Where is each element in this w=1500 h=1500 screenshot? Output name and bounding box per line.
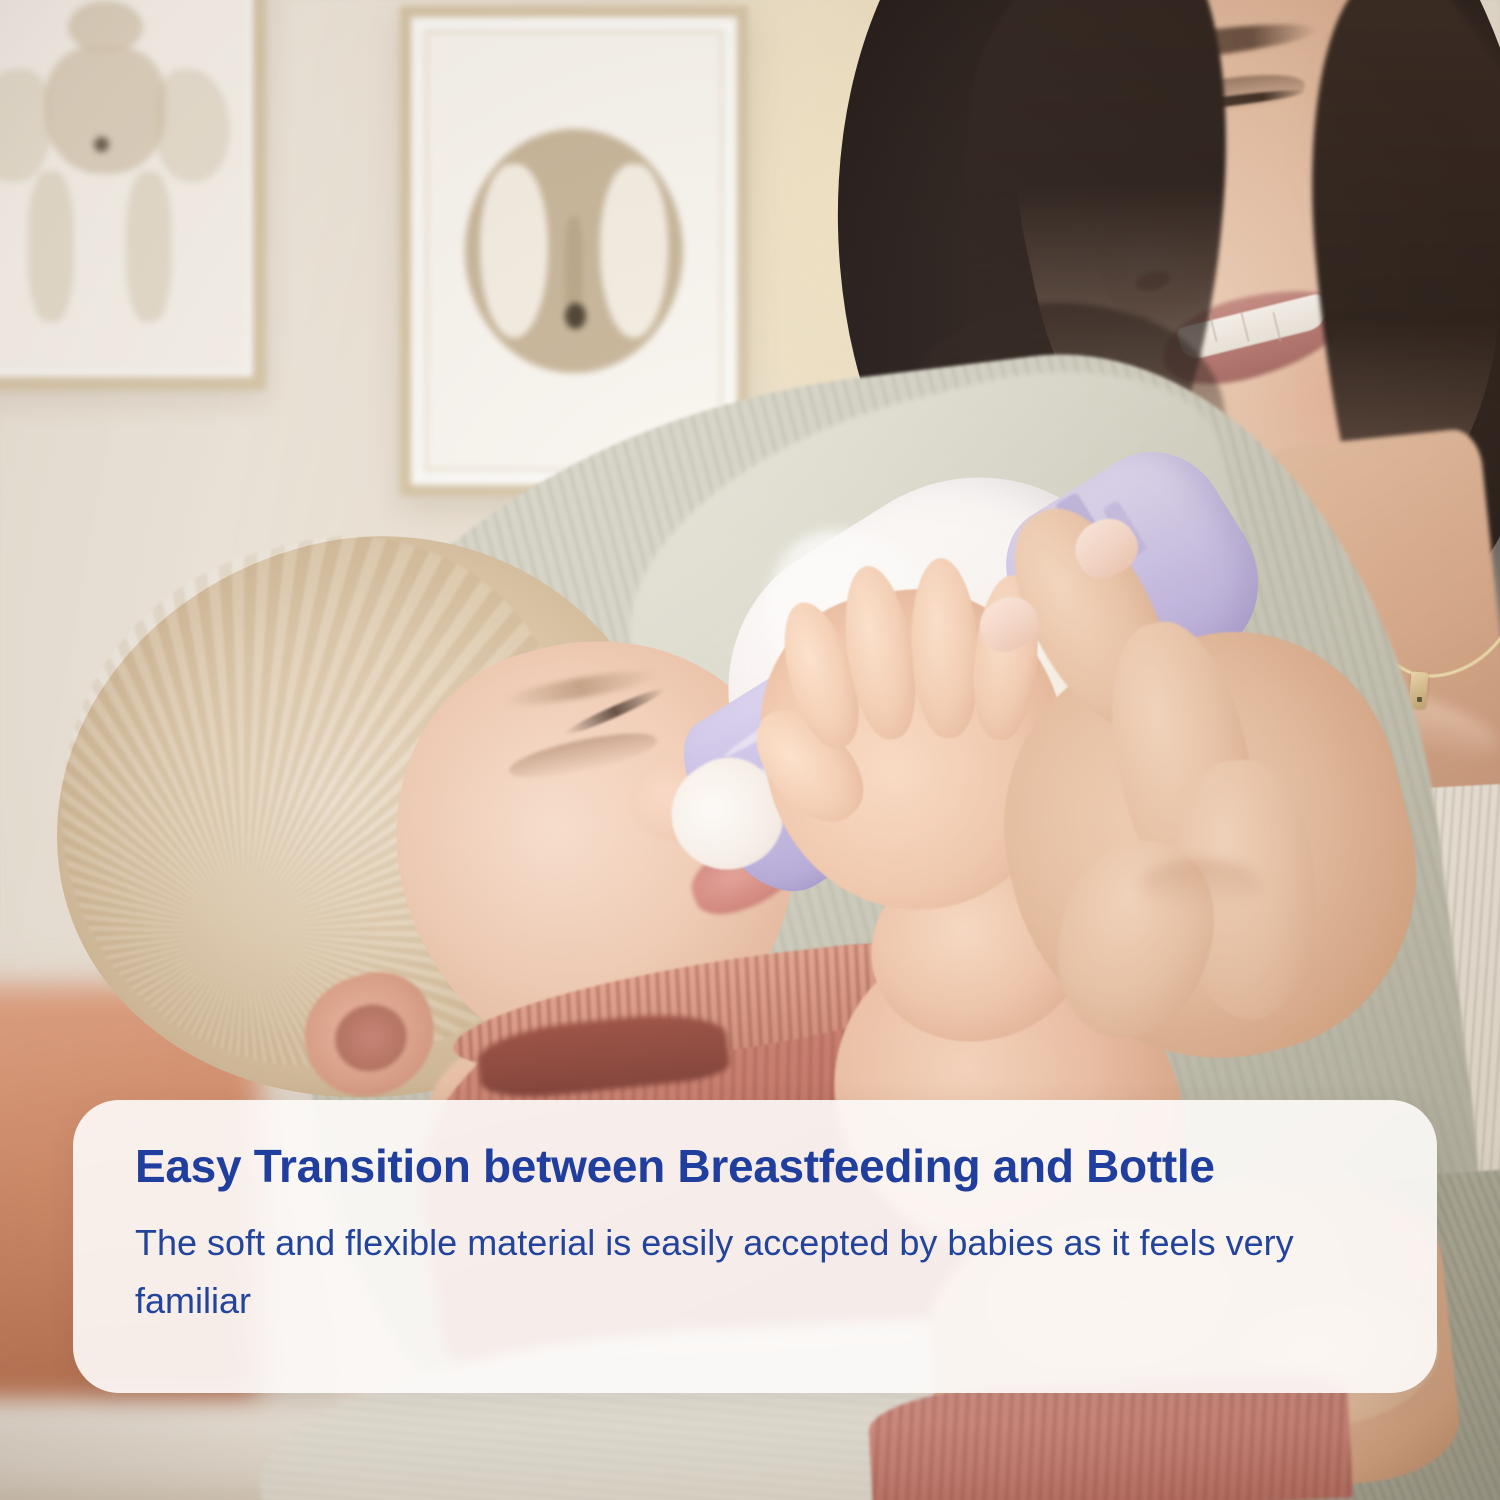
artwork-left-accent-dot	[94, 137, 108, 152]
framed-artwork-left	[0, 0, 266, 390]
artwork-left-leg-shape	[28, 171, 74, 322]
pendant-engraving	[1417, 697, 1422, 702]
artwork-right-leg-shape	[126, 171, 172, 322]
caption-headline: Easy Transition between Breastfeeding an…	[135, 1142, 1379, 1192]
product-lifestyle-image: Easy Transition between Breastfeeding an…	[0, 0, 1500, 1500]
caption-card: Easy Transition between Breastfeeding an…	[73, 1100, 1437, 1393]
artwork-left-canvas	[0, 0, 247, 371]
artwork-right-eye-left	[480, 164, 548, 338]
artwork-right-pupil	[565, 303, 586, 329]
mother-knuckle-shadow	[1140, 860, 1260, 910]
artwork-right-mat	[425, 31, 723, 471]
caption-subtitle: The soft and flexible material is easily…	[135, 1214, 1325, 1331]
artwork-right-arm-shape	[155, 69, 230, 182]
artwork-left-arm-shape	[0, 69, 51, 182]
artwork-left-torso-shape	[45, 46, 166, 175]
artwork-right-eye-right	[600, 164, 668, 338]
